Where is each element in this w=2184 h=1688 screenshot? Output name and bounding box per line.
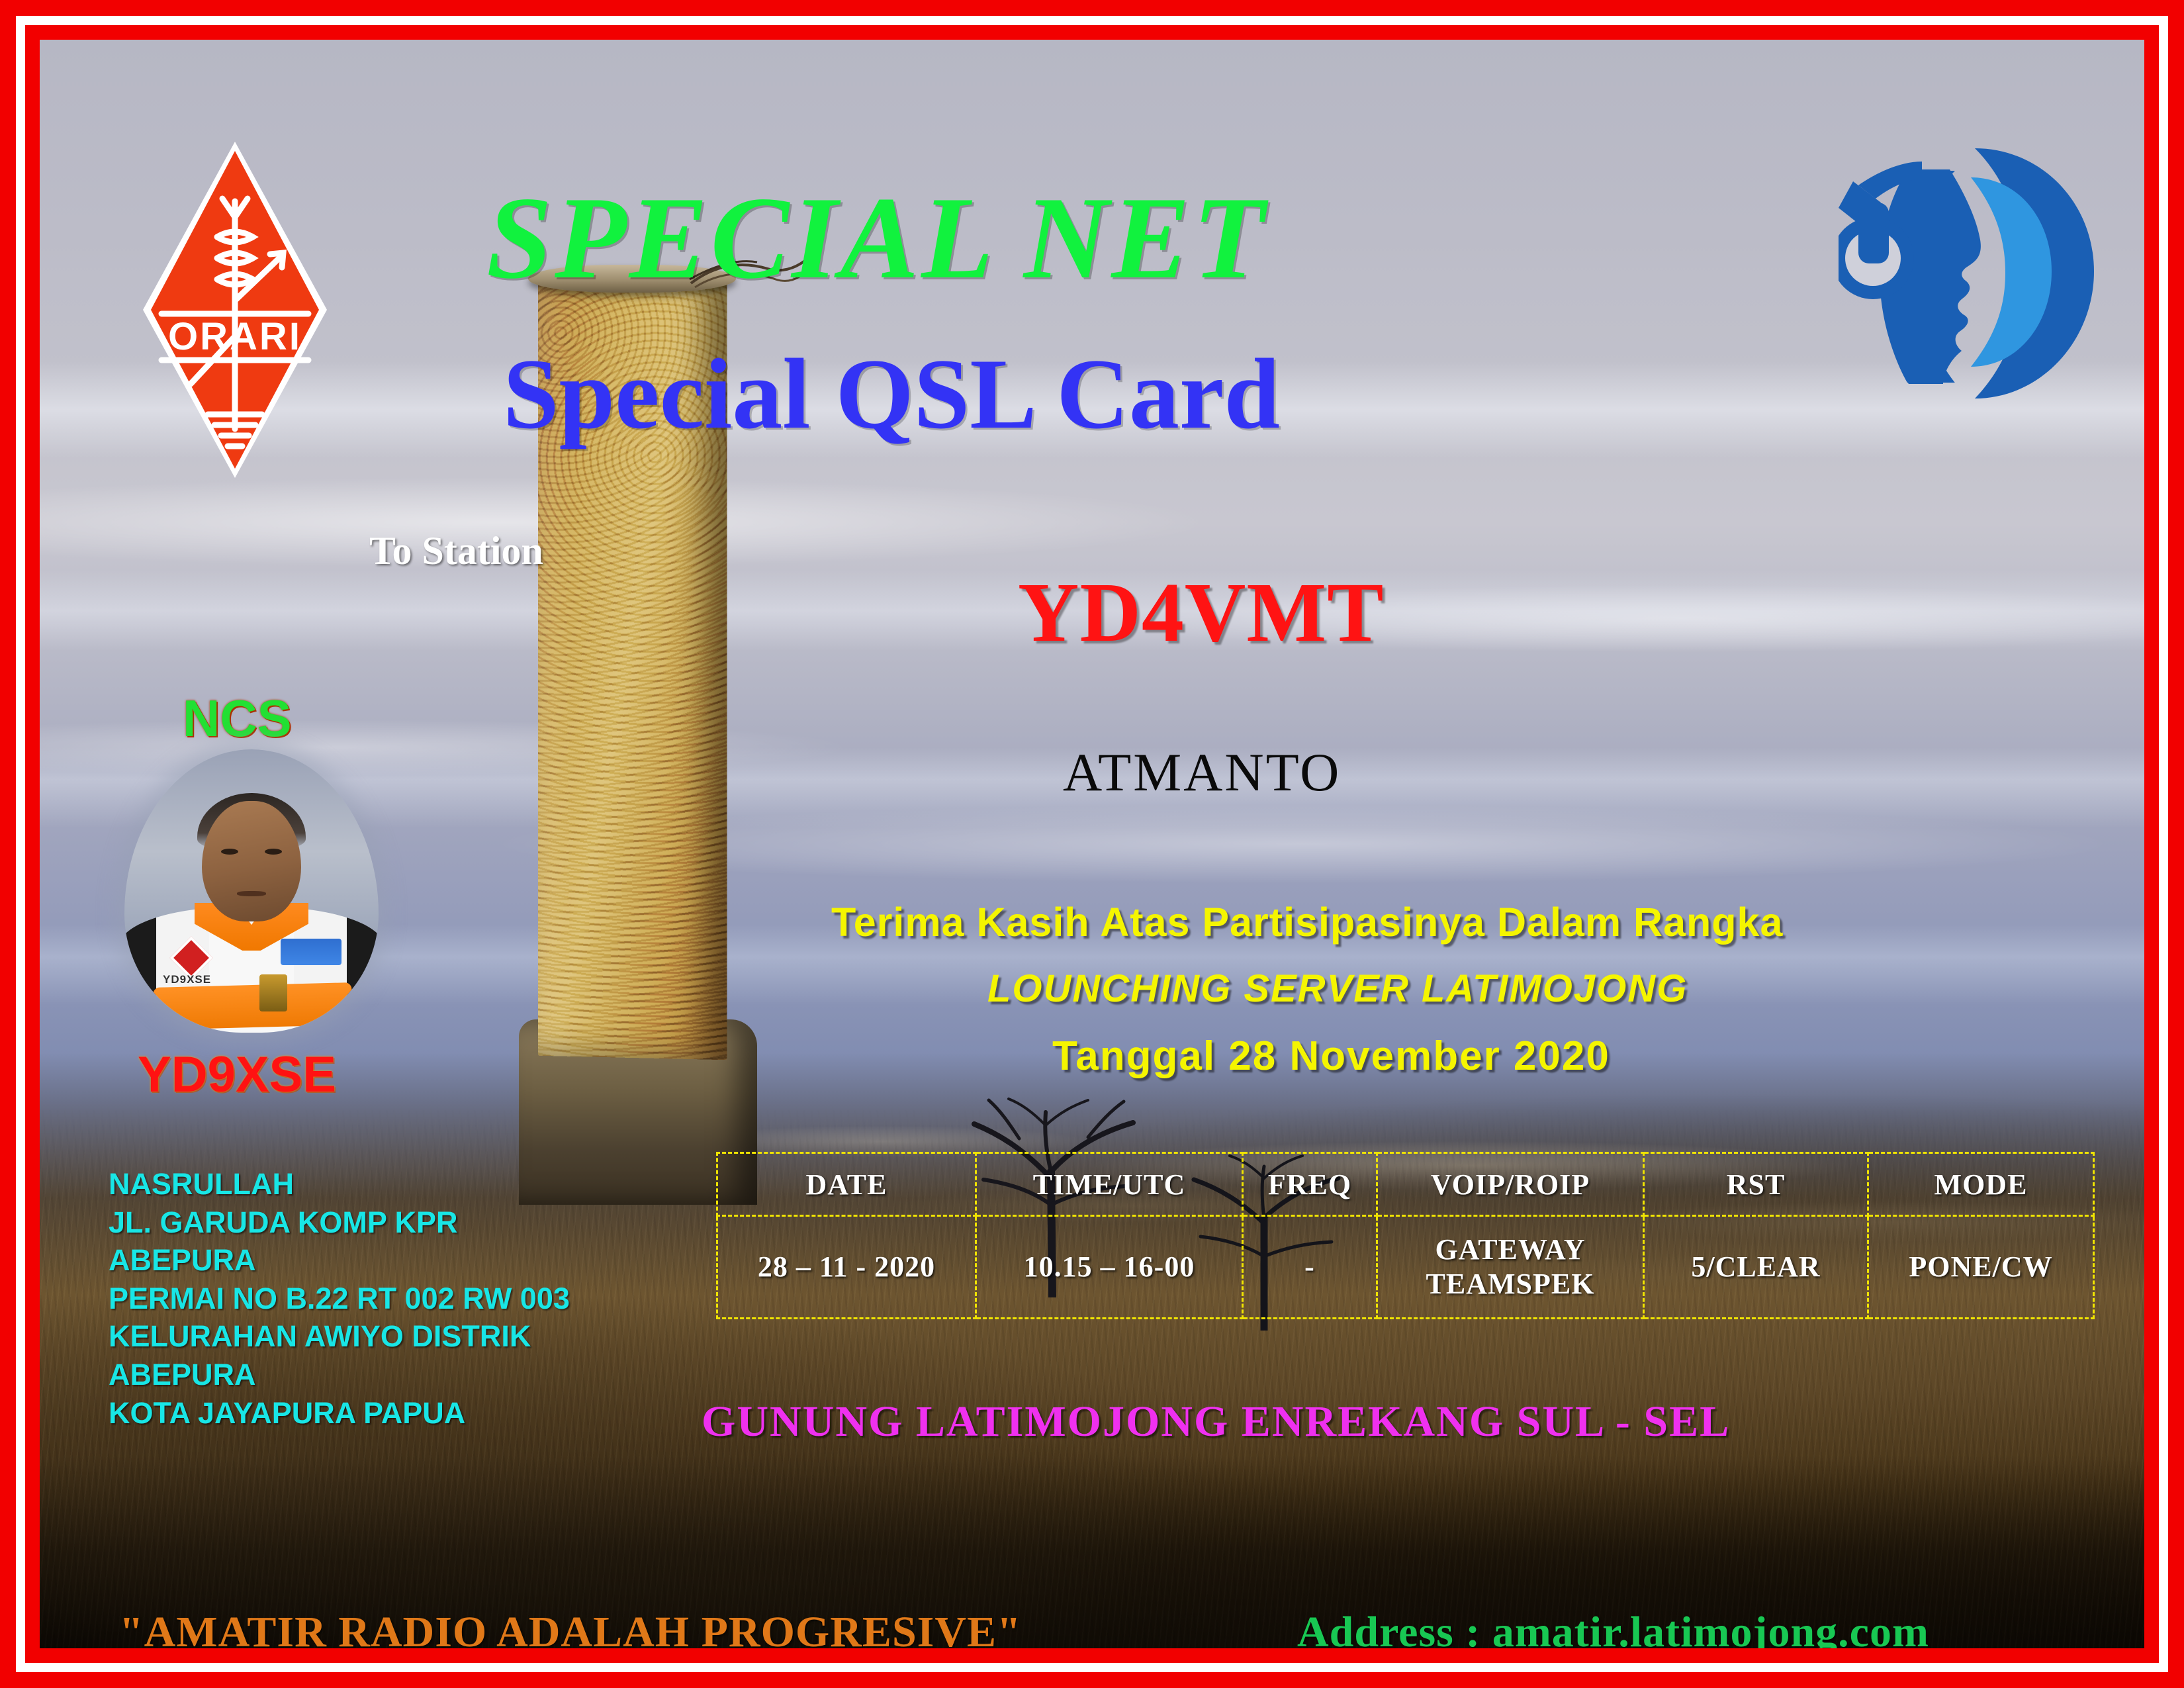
cell-date: 28 – 11 - 2020 (717, 1216, 976, 1319)
page-subtitle: Special QSL Card (503, 336, 1280, 451)
slogan-text: "AMATIR RADIO ADALAH PROGRESIVE" (119, 1607, 1022, 1648)
cell-freq: - (1243, 1216, 1377, 1319)
cell-voip-line-1: GATEWAY (1378, 1233, 1643, 1267)
address-line: ABEPURA (109, 1241, 570, 1280)
table-header-mode: MODE (1868, 1153, 2094, 1216)
card-frame-white: ORARI SPECIAL NET Special QSL Card To St… (16, 16, 2168, 1672)
portrait-mouth (237, 891, 266, 896)
cell-rst: 5/CLEAR (1644, 1216, 1868, 1319)
thanks-line-3: Tanggal 28 November 2020 (1052, 1033, 1610, 1080)
to-station-label: To Station (369, 528, 543, 574)
portrait-id-card (259, 974, 287, 1011)
address-line: KOTA JAYAPURA PAPUA (109, 1394, 570, 1432)
page-title: SPECIAL NET (486, 169, 1267, 306)
card-photo-area: ORARI SPECIAL NET Special QSL Card To St… (40, 40, 2144, 1648)
ncs-label: NCS (183, 688, 292, 749)
orari-logo: ORARI (139, 138, 331, 482)
thanks-line-1: Terima Kasih Atas Partisipasinya Dalam R… (831, 899, 1783, 945)
recipient-callsign: YD4VMT (1018, 564, 1385, 661)
mountain-caption: GUNUNG LATIMOJONG ENREKANG SUL - SEL (702, 1397, 1730, 1447)
portrait-eye-left (221, 849, 238, 855)
table-header-time: TIME/UTC (976, 1153, 1243, 1216)
thanks-line-2: LOUNCHING SERVER LATIMOJONG (987, 966, 1688, 1011)
card-frame-red-inner: ORARI SPECIAL NET Special QSL Card To St… (25, 25, 2159, 1663)
portrait-chest-badge (281, 939, 341, 965)
cell-mode: PONE/CW (1868, 1216, 2094, 1319)
recipient-operator-name: ATMANTO (1063, 741, 1341, 804)
cell-voip-line-2: TEAMSPEK (1378, 1267, 1643, 1301)
portrait-sash (153, 982, 353, 1030)
address-line: ABEPURA (109, 1356, 570, 1394)
table-header-row: DATE TIME/UTC FREQ VOIP/ROIP RST MODE (717, 1153, 2094, 1216)
table-header-rst: RST (1644, 1153, 1868, 1216)
orari-logo-text: ORARI (168, 315, 302, 358)
portrait-shirt-callsign: YD9XSE (163, 973, 211, 986)
table-header-date: DATE (717, 1153, 976, 1216)
table-header-voip: VOIP/ROIP (1377, 1153, 1644, 1216)
qsl-card: ORARI SPECIAL NET Special QSL Card To St… (0, 0, 2184, 1688)
cell-time: 10.15 – 16-00 (976, 1216, 1243, 1319)
table-row: 28 – 11 - 2020 10.15 – 16-00 - GATEWAY T… (717, 1216, 2094, 1319)
portrait-eye-right (265, 849, 282, 855)
headset-profile-logo (1839, 139, 2103, 410)
ncs-callsign: YD9XSE (138, 1046, 336, 1103)
address-line: KELURAHAN AWIYO DISTRIK (109, 1317, 570, 1356)
address-line: JL. GARUDA KOMP KPR (109, 1203, 570, 1242)
qso-log-table: DATE TIME/UTC FREQ VOIP/ROIP RST MODE 28… (716, 1152, 2095, 1319)
website-address: Address : amatir.latimojong.com (1297, 1607, 1929, 1648)
sender-address-block: NASRULLAH JL. GARUDA KOMP KPR ABEPURA PE… (109, 1165, 570, 1432)
portrait-head (202, 801, 301, 921)
address-line: NASRULLAH (109, 1165, 570, 1203)
cell-voip: GATEWAY TEAMSPEK (1377, 1216, 1644, 1319)
address-line: PERMAI NO B.22 RT 002 RW 003 (109, 1280, 570, 1318)
table-header-freq: FREQ (1243, 1153, 1377, 1216)
